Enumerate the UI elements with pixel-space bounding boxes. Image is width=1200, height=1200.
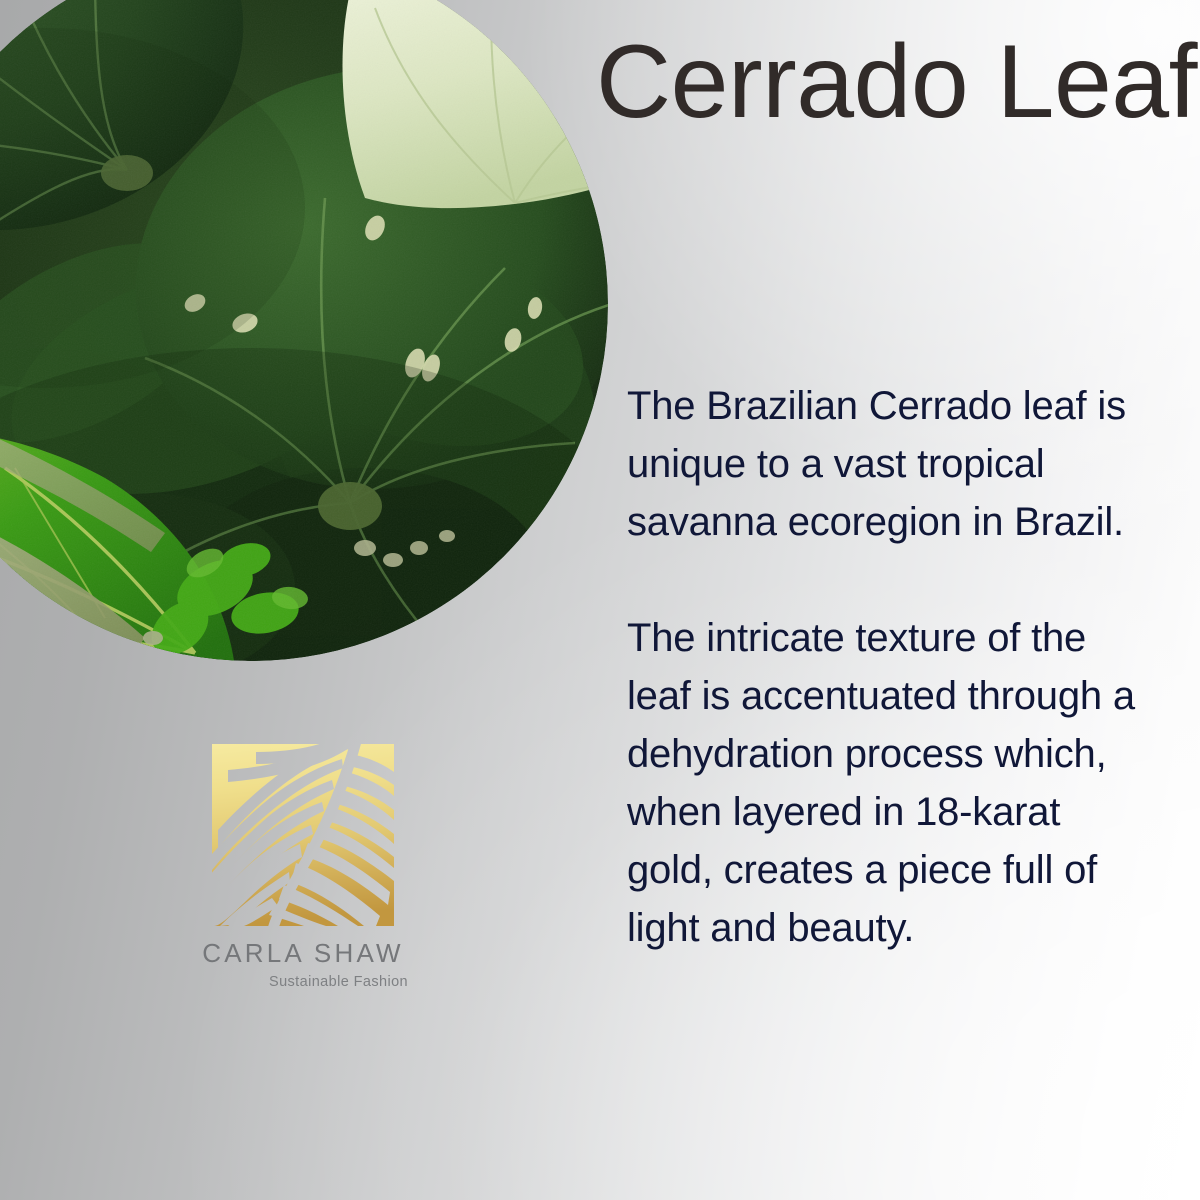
brand-name: CARLA SHAW <box>196 940 410 966</box>
brand-tagline: Sustainable Fashion <box>196 975 410 990</box>
page-title: Cerrado Leaf <box>596 22 1197 143</box>
body-copy: The Brazilian Cerrado leaf is unique to … <box>627 377 1147 957</box>
palm-frond-icon <box>212 744 394 926</box>
brand-logo[interactable]: CARLA SHAW Sustainable Fashion <box>196 744 410 990</box>
poster-canvas: Cerrado Leaf The Brazilian Cerrado leaf … <box>0 0 1200 1200</box>
paragraph-two: The intricate texture of the leaf is acc… <box>627 609 1147 957</box>
paragraph-one: The Brazilian Cerrado leaf is unique to … <box>627 377 1147 551</box>
